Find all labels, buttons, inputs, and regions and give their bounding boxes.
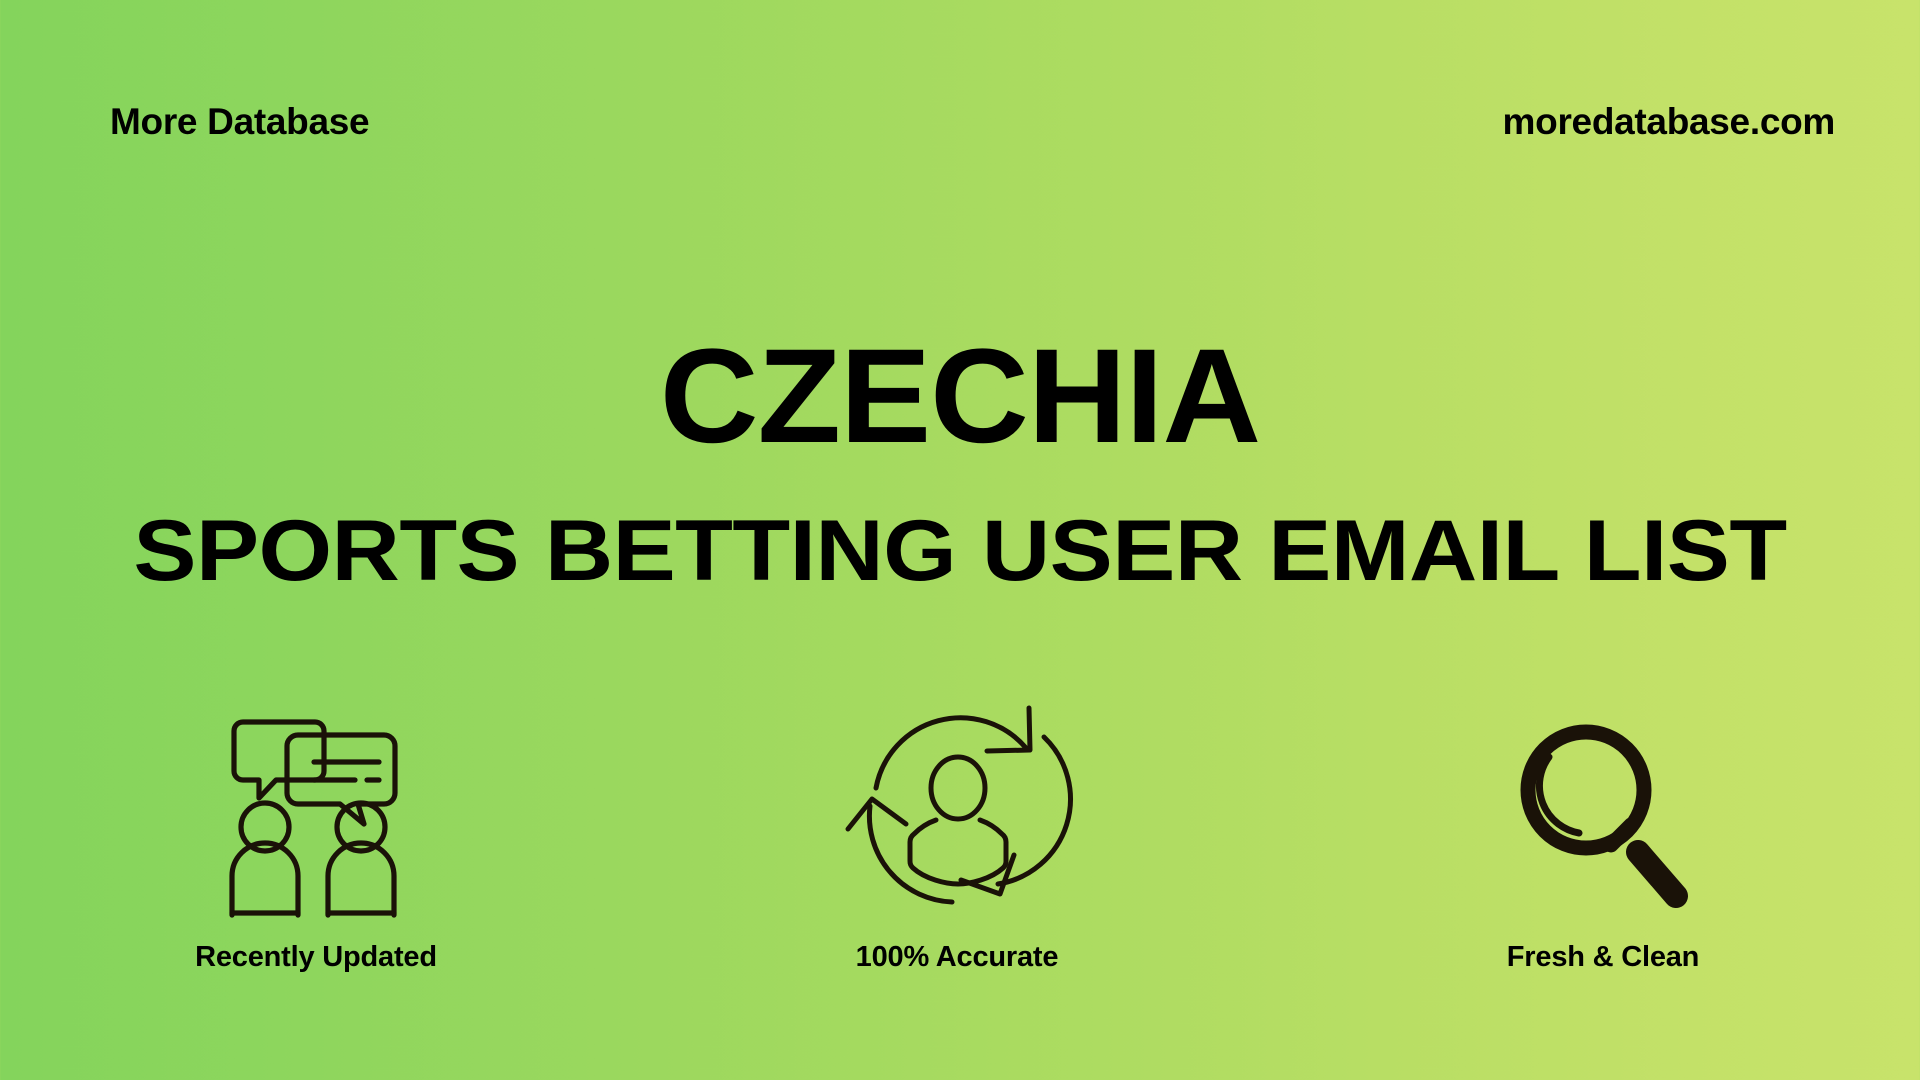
list-title: SPORTS BETTING USER EMAIL LIST <box>0 508 1920 594</box>
feature-recently-updated: Recently Updated <box>0 700 636 974</box>
feature-fresh-clean: Fresh & Clean <box>1283 700 1920 974</box>
site-url: moredatabase.com <box>1503 103 1835 140</box>
feature-label-accuracy: 100% Accurate <box>856 941 1059 974</box>
brand-name: More Database <box>110 103 369 140</box>
people-chat-icon <box>221 700 411 915</box>
magnifier-icon <box>1516 700 1691 915</box>
feature-row: Recently Updated <box>0 700 1920 974</box>
banner-header: More Database moredatabase.com <box>110 103 1835 140</box>
promo-banner: More Database moredatabase.com CZECHIA S… <box>0 0 1920 1080</box>
hero-title-block: CZECHIA SPORTS BETTING USER EMAIL LIST <box>0 330 1920 594</box>
feature-accuracy: 100% Accurate <box>637 700 1277 974</box>
user-refresh-cycle-icon <box>848 700 1066 915</box>
country-title: CZECHIA <box>0 330 1920 464</box>
feature-label-fresh-clean: Fresh & Clean <box>1507 941 1699 974</box>
feature-label-recently-updated: Recently Updated <box>195 941 437 974</box>
